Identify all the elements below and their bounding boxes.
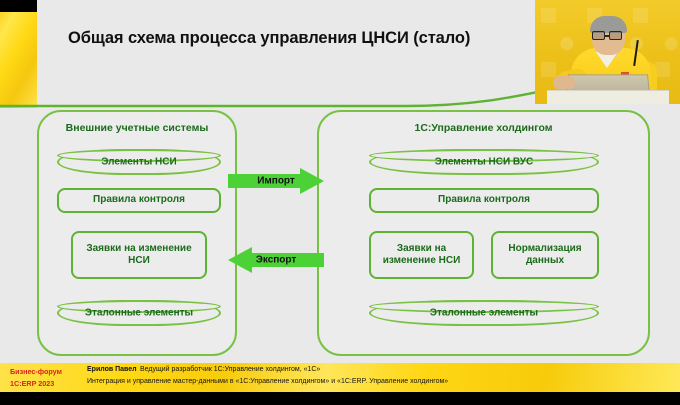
footer-bar: Бизнес-форум 1C:ERP 2023 Ерилов Павел Ве… xyxy=(0,363,680,392)
node-pravila-kontrolya[interactable]: Правила контроля xyxy=(57,188,221,213)
footer-brand-line2: 1C:ERP 2023 xyxy=(10,378,82,390)
panel-left-title: Внешние учетные системы xyxy=(39,122,235,134)
node-pravila-kontrolya-right[interactable]: Правила контроля xyxy=(369,188,599,213)
footer-speaker-role: Ведущий разработчик 1С:Управление холдин… xyxy=(140,366,320,373)
node-normalizaciya-dannyh[interactable]: Нормализация данных xyxy=(491,231,599,279)
presentation-slide: Общая схема процесса управления ЦНСИ (ст… xyxy=(0,0,680,405)
node-label: Элементы НСИ ВУС xyxy=(371,157,597,168)
arrow-import: Импорт xyxy=(228,168,324,194)
page-title: Общая схема процесса управления ЦНСИ (ст… xyxy=(68,29,518,48)
node-etalonnye-elementy-right[interactable]: Эталонные элементы xyxy=(369,300,599,326)
footer-topic: Интеграция и управление мастер-данными в… xyxy=(87,378,448,385)
node-etalonnye-elementy[interactable]: Эталонные элементы xyxy=(57,300,221,326)
backdrop-square xyxy=(541,62,556,77)
backdrop-square xyxy=(541,8,556,23)
footer-brand: Бизнес-форум 1C:ERP 2023 xyxy=(10,366,82,390)
backdrop-square xyxy=(633,8,648,23)
backdrop-square xyxy=(655,62,670,77)
arrow-import-label: Импорт xyxy=(228,176,324,187)
arrow-export-label: Экспорт xyxy=(228,255,324,266)
panel-1c-holding-management: 1С:Управление холдингом Элементы НСИ ВУС… xyxy=(317,110,650,356)
glasses-bridge xyxy=(605,35,609,37)
footer-speaker-name: Ерилов Павел xyxy=(87,366,137,373)
glasses-icon xyxy=(609,31,622,40)
node-elementy-nsi[interactable]: Элементы НСИ xyxy=(57,149,221,175)
arrow-export: Экспорт xyxy=(228,247,324,273)
node-elementy-nsi-vus[interactable]: Элементы НСИ ВУС xyxy=(369,149,599,175)
speaker-video-feed[interactable] xyxy=(535,0,680,104)
speaker-hand xyxy=(553,76,575,89)
node-zayavki-na-izmenenie-nsi-right[interactable]: Заявки на изменение НСИ xyxy=(369,231,474,279)
panel-external-systems: Внешние учетные системы Элементы НСИ Пра… xyxy=(37,110,237,356)
glasses-icon xyxy=(592,31,605,40)
left-yellow-accent xyxy=(0,0,37,108)
podium xyxy=(547,90,669,104)
footer-brand-line1: Бизнес-форум xyxy=(10,366,82,378)
footer-black-strip xyxy=(0,392,680,405)
panel-right-title: 1С:Управление холдингом xyxy=(319,122,648,134)
node-label: Эталонные элементы xyxy=(371,308,597,319)
node-zayavki-na-izmenenie-nsi[interactable]: Заявки на изменение НСИ xyxy=(71,231,207,279)
node-label: Эталонные элементы xyxy=(59,308,219,319)
node-label: Элементы НСИ xyxy=(59,157,219,168)
